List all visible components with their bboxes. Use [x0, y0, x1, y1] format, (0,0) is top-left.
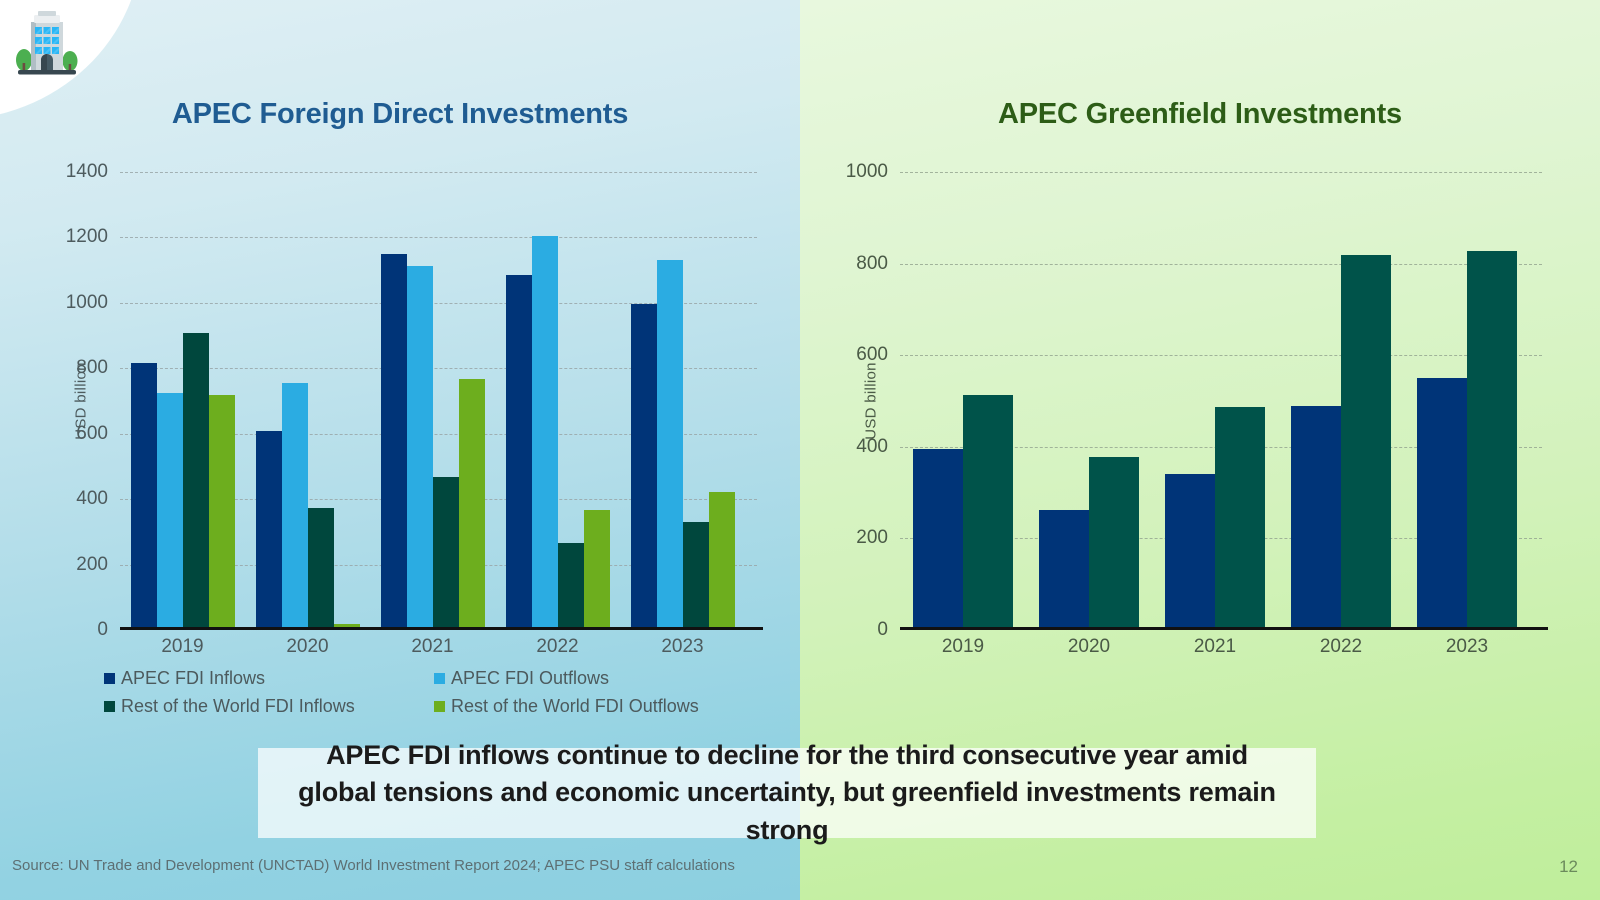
bar-group-2020 — [1026, 172, 1152, 630]
x-axis-line-apec-fdi — [120, 627, 763, 630]
y-axis-tick-label: 800 — [856, 253, 888, 275]
x-axis-tick-label: 2021 — [370, 636, 495, 658]
bar — [1165, 474, 1215, 630]
x-axis-tick-label: 2019 — [900, 636, 1026, 658]
gridline — [120, 630, 757, 631]
plot-area-apec-fdi: USD billion 0200400600800100012001400 20… — [120, 172, 745, 630]
y-axis-tick-label: 1000 — [66, 292, 108, 314]
legend-swatch-icon — [434, 673, 445, 684]
y-axis-tick-label: 800 — [76, 357, 108, 379]
bar — [558, 543, 584, 630]
bar — [282, 383, 308, 630]
chart-title-apec-fdi: APEC Foreign Direct Investments — [0, 98, 800, 131]
bar — [631, 304, 657, 630]
x-axis-tick-label: 2023 — [1404, 636, 1530, 658]
bar — [584, 510, 610, 630]
bar — [532, 236, 558, 630]
bar — [657, 260, 683, 630]
bar — [1039, 510, 1089, 630]
y-axis-tick-label: 0 — [97, 619, 108, 641]
x-axis-tick-label: 2021 — [1152, 636, 1278, 658]
legend-swatch-icon — [434, 701, 445, 712]
bar — [913, 449, 963, 630]
bar — [1467, 251, 1517, 630]
bar-group-2020 — [245, 172, 370, 630]
y-axis-tick-label: 400 — [856, 436, 888, 458]
bar — [1215, 407, 1265, 630]
bar — [433, 477, 459, 630]
y-axis-tick-label: 600 — [76, 423, 108, 445]
bar — [131, 363, 157, 630]
chart-title-apec-greenfield: APEC Greenfield Investments — [800, 98, 1600, 131]
x-axis-tick-label: 2020 — [1026, 636, 1152, 658]
x-axis-tick-label: 2022 — [1278, 636, 1404, 658]
slide-canvas: APEC Foreign Direct Investments USD bill… — [0, 0, 1600, 900]
bar — [157, 393, 183, 630]
bars-apec-fdi — [120, 172, 745, 630]
bar — [1417, 378, 1467, 630]
bar — [407, 266, 433, 630]
bar — [1341, 255, 1391, 630]
y-axis-label-apec-greenfield: USD billion — [862, 362, 879, 440]
gridline — [900, 630, 1542, 631]
bar-group-2019 — [120, 172, 245, 630]
y-axis-tick-label: 200 — [856, 527, 888, 549]
y-axis-tick-label: 0 — [877, 619, 888, 641]
bar-group-2019 — [900, 172, 1026, 630]
y-axis-tick-label: 400 — [76, 488, 108, 510]
bar — [709, 492, 735, 630]
bar — [1291, 406, 1341, 630]
y-axis-tick-label: 600 — [856, 344, 888, 366]
legend-label: Rest of the World FDI Inflows — [121, 696, 355, 717]
legend-apec-fdi: APEC FDI InflowsAPEC FDI OutflowsRest of… — [104, 668, 764, 724]
x-axis-tick-label: 2019 — [120, 636, 245, 658]
x-axis-ticks-apec-greenfield: 20192020202120222023 — [900, 636, 1530, 658]
bar — [381, 254, 407, 630]
legend-swatch-icon — [104, 673, 115, 684]
x-axis-tick-label: 2022 — [495, 636, 620, 658]
x-axis-line-apec-greenfield — [900, 627, 1548, 630]
page-number: 12 — [1559, 857, 1578, 877]
bars-apec-greenfield — [900, 172, 1530, 630]
legend-item[interactable]: APEC FDI Outflows — [434, 668, 764, 689]
bar — [256, 431, 282, 630]
legend-label: APEC FDI Outflows — [451, 668, 609, 689]
bar-group-2022 — [495, 172, 620, 630]
x-axis-ticks-apec-fdi: 20192020202120222023 — [120, 636, 745, 658]
legend-item[interactable]: Rest of the World FDI Inflows — [104, 696, 434, 717]
legend-label: Rest of the World FDI Outflows — [451, 696, 699, 717]
legend-item[interactable]: Rest of the World FDI Outflows — [434, 696, 764, 717]
bar — [209, 395, 235, 630]
y-axis-tick-label: 200 — [76, 554, 108, 576]
key-message-box: APEC FDI inflows continue to decline for… — [258, 748, 1316, 838]
chart-panel-apec-fdi: APEC Foreign Direct Investments USD bill… — [0, 0, 800, 760]
bar-group-2023 — [1404, 172, 1530, 630]
bar — [506, 275, 532, 630]
y-axis-tick-label: 1000 — [846, 161, 888, 183]
x-axis-tick-label: 2020 — [245, 636, 370, 658]
legend-swatch-icon — [104, 701, 115, 712]
y-axis-tick-label: 1200 — [66, 226, 108, 248]
bar-group-2021 — [370, 172, 495, 630]
bar-group-2021 — [1152, 172, 1278, 630]
bar — [683, 522, 709, 630]
legend-label: APEC FDI Inflows — [121, 668, 265, 689]
legend-item[interactable]: APEC FDI Inflows — [104, 668, 434, 689]
bar — [308, 508, 334, 630]
bar — [459, 379, 485, 630]
source-note: Source: UN Trade and Development (UNCTAD… — [12, 857, 735, 874]
bar — [1089, 457, 1139, 630]
bar — [183, 333, 209, 630]
chart-panel-apec-greenfield: APEC Greenfield Investments USD billion … — [800, 0, 1600, 760]
x-axis-tick-label: 2023 — [620, 636, 745, 658]
bar-group-2023 — [620, 172, 745, 630]
bar-group-2022 — [1278, 172, 1404, 630]
y-axis-tick-label: 1400 — [66, 161, 108, 183]
bar — [963, 395, 1013, 630]
key-message-text: APEC FDI inflows continue to decline for… — [284, 737, 1290, 849]
plot-area-apec-greenfield: USD billion 02004006008001000 2019202020… — [900, 172, 1530, 630]
